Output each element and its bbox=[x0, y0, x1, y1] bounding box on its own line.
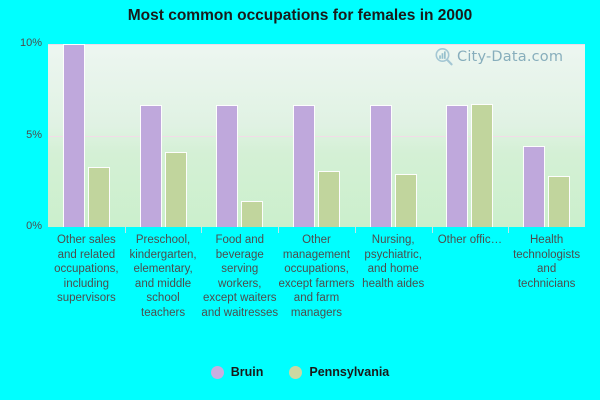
bar-pennsylvania-2 bbox=[241, 201, 263, 227]
bar-pennsylvania-1 bbox=[165, 152, 187, 227]
gridline bbox=[48, 44, 585, 45]
x-axis-category-label: Other offic… bbox=[432, 233, 509, 248]
bar-bruin-0 bbox=[63, 44, 85, 227]
x-axis-category-label: Other sales and related occupations, inc… bbox=[48, 233, 125, 306]
bar-bruin-5 bbox=[446, 105, 468, 227]
legend-item-pennsylvania[interactable]: Pennsylvania bbox=[289, 365, 389, 379]
y-axis-tick-label: 10% bbox=[0, 37, 42, 49]
watermark: City-Data.com bbox=[434, 47, 563, 67]
magnifier-chart-icon bbox=[434, 47, 454, 67]
bar-pennsylvania-0 bbox=[88, 167, 110, 227]
x-axis-category-label: Health technologists and technicians bbox=[508, 233, 585, 291]
bar-pennsylvania-5 bbox=[471, 104, 493, 227]
chart-legend: BruinPennsylvania bbox=[0, 365, 600, 379]
x-axis-category-label: Nursing, psychiatric, and home health ai… bbox=[355, 233, 432, 291]
legend-swatch-icon bbox=[211, 366, 224, 379]
legend-label: Bruin bbox=[231, 365, 264, 379]
x-axis-category-label: Preschool, kindergarten, elementary, and… bbox=[125, 233, 202, 321]
bar-pennsylvania-4 bbox=[395, 174, 417, 227]
y-axis-tick-label: 5% bbox=[0, 129, 42, 141]
bar-bruin-4 bbox=[370, 105, 392, 227]
gridline bbox=[48, 136, 585, 137]
bar-pennsylvania-3 bbox=[318, 171, 340, 227]
chart-container: Most common occupations for females in 2… bbox=[0, 0, 600, 400]
bar-bruin-3 bbox=[293, 105, 315, 227]
x-axis-category-label: Food and beverage serving workers, excep… bbox=[201, 233, 278, 321]
bar-bruin-6 bbox=[523, 146, 545, 227]
bar-pennsylvania-6 bbox=[548, 176, 570, 227]
watermark-text: City-Data.com bbox=[457, 49, 563, 65]
bar-bruin-1 bbox=[140, 105, 162, 227]
x-axis-category-label: Other management occupations, except far… bbox=[278, 233, 355, 321]
plot-area bbox=[48, 44, 585, 227]
legend-label: Pennsylvania bbox=[309, 365, 389, 379]
bar-bruin-2 bbox=[216, 105, 238, 227]
legend-item-bruin[interactable]: Bruin bbox=[211, 365, 264, 379]
legend-swatch-icon bbox=[289, 366, 302, 379]
y-axis-tick-label: 0% bbox=[0, 220, 42, 232]
